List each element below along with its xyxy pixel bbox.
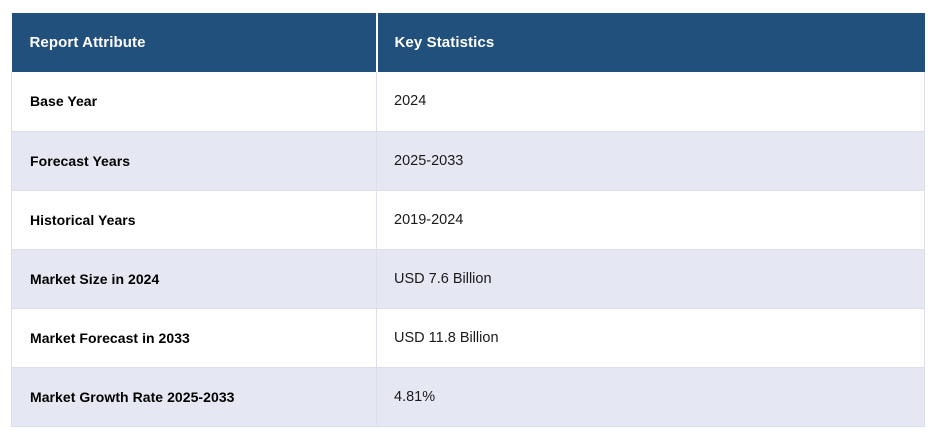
cell-attribute: Base Year [12,72,377,131]
cell-attribute: Market Forecast in 2033 [12,308,377,367]
table-row: Market Size in 2024 USD 7.6 Billion [12,249,925,308]
column-header-report-attribute: Report Attribute [12,13,377,72]
table-row: Historical Years 2019-2024 [12,190,925,249]
cell-statistic: 4.81% [377,367,925,426]
column-header-key-statistics: Key Statistics [377,13,925,72]
cell-statistic: USD 11.8 Billion [377,308,925,367]
cell-statistic: 2025-2033 [377,131,925,190]
cell-attribute: Forecast Years [12,131,377,190]
table-header-row: Report Attribute Key Statistics [12,13,925,72]
table-row: Market Growth Rate 2025-2033 4.81% [12,367,925,426]
table-row: Forecast Years 2025-2033 [12,131,925,190]
cell-statistic: 2024 [377,72,925,131]
cell-statistic: USD 7.6 Billion [377,249,925,308]
cell-attribute: Historical Years [12,190,377,249]
cell-attribute: Market Growth Rate 2025-2033 [12,367,377,426]
page-container: Report Attribute Key Statistics Base Yea… [0,0,928,435]
table-row: Market Forecast in 2033 USD 11.8 Billion [12,308,925,367]
report-attributes-table: Report Attribute Key Statistics Base Yea… [11,13,925,427]
table-header: Report Attribute Key Statistics [12,13,925,72]
table-body: Base Year 2024 Forecast Years 2025-2033 … [12,72,925,426]
cell-statistic: 2019-2024 [377,190,925,249]
cell-attribute: Market Size in 2024 [12,249,377,308]
table-row: Base Year 2024 [12,72,925,131]
